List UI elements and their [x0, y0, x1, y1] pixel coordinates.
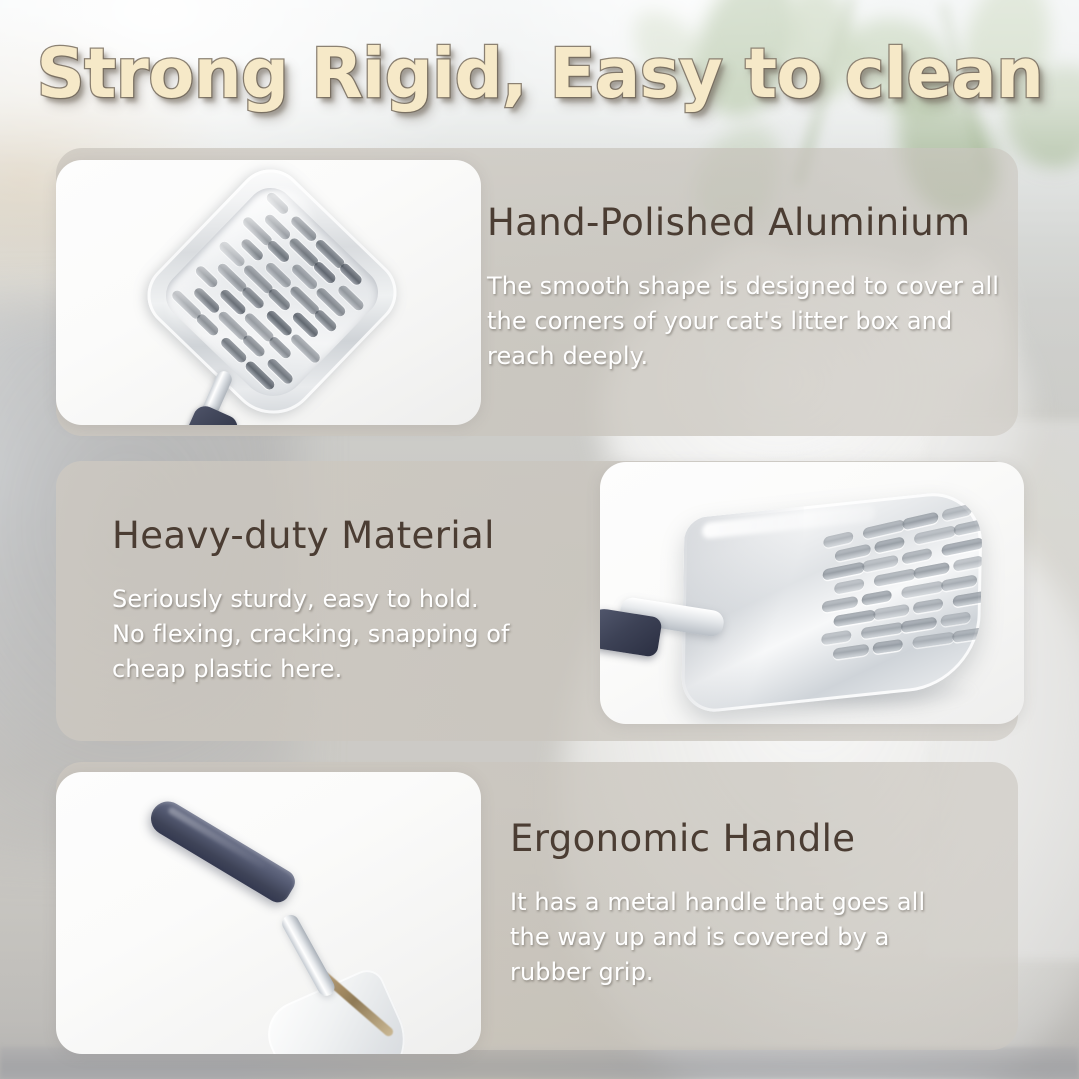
page-title: Strong Rigid, Easy to clean	[0, 40, 1079, 109]
scoop-slot-grid	[819, 511, 983, 686]
feature-text-3: Ergonomic Handle It has a metal handle t…	[510, 818, 1030, 990]
scoop-rubber-grip	[145, 795, 300, 907]
feature-desc-1-line-3: reach deeply.	[487, 339, 1007, 374]
feature-text-1: Hand-Polished Aluminium The smooth shape…	[487, 202, 1007, 374]
page-title-text: Strong Rigid, Easy to clean	[36, 40, 1043, 109]
litter-scoop-top-view-illustration	[56, 160, 481, 425]
scoop-blade	[257, 964, 421, 1054]
feature-title-2: Heavy-duty Material	[112, 515, 632, 556]
rubber-grip-handle-illustration	[56, 772, 481, 1054]
feature-desc-3: It has a metal handle that goes all the …	[510, 885, 1030, 989]
feature-desc-1: The smooth shape is designed to cover al…	[487, 269, 1007, 373]
feature-desc-2-line-3: cheap plastic here.	[112, 652, 632, 687]
scoop-bowl	[681, 488, 983, 716]
feature-desc-3-line-1: It has a metal handle that goes all	[510, 885, 1030, 920]
litter-scoop-angled-view-illustration	[600, 462, 1024, 724]
scoop-metal-rod	[279, 912, 338, 999]
feature-image-card-1	[56, 160, 481, 425]
feature-desc-2: Seriously sturdy, easy to hold. No flexi…	[112, 582, 632, 686]
scoop-pan	[133, 160, 410, 425]
feature-desc-3-line-2: the way up and is covered by a	[510, 920, 1030, 955]
feature-title-1: Hand-Polished Aluminium	[487, 202, 1007, 243]
feature-desc-2-line-2: No flexing, cracking, snapping of	[112, 617, 632, 652]
feature-desc-3-line-3: rubber grip.	[510, 955, 1030, 990]
feature-title-3: Ergonomic Handle	[510, 818, 1030, 859]
feature-desc-2-line-1: Seriously sturdy, easy to hold.	[112, 582, 632, 617]
feature-text-2: Heavy-duty Material Seriously sturdy, ea…	[112, 515, 632, 687]
feature-desc-1-line-1: The smooth shape is designed to cover al…	[487, 269, 1007, 304]
feature-image-card-2	[600, 462, 1024, 724]
feature-image-card-3	[56, 772, 481, 1054]
feature-desc-1-line-2: the corners of your cat's litter box and	[487, 304, 1007, 339]
